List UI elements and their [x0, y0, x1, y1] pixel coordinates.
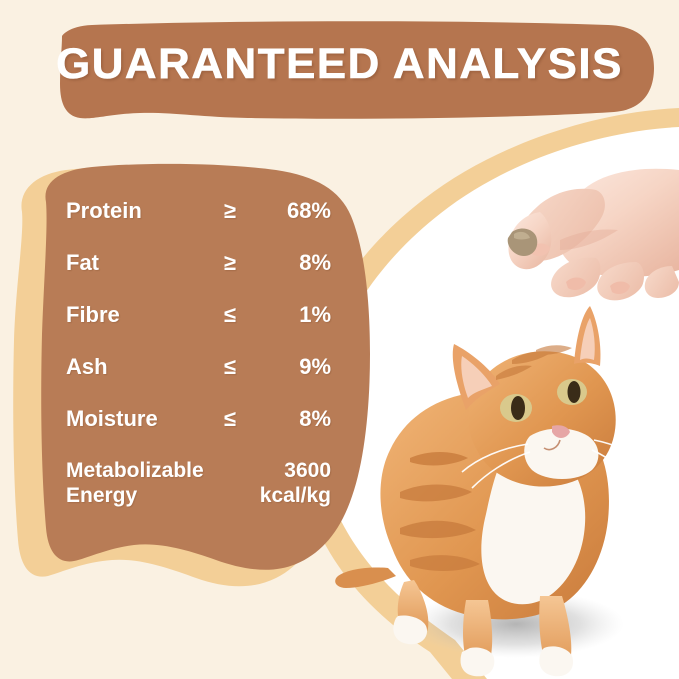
guaranteed-analysis-infographic: GUARANTEED ANALYSIS Protein ≥ 68% Fat ≥ … [0, 0, 679, 679]
table-row: Metabolizable Energy 3600 kcal/kg [66, 458, 331, 508]
nutrient-value: 9% [254, 354, 331, 380]
cat-eye-left-pupil [511, 396, 525, 420]
cat-eye-right-pupil [568, 381, 581, 403]
comparison-operator: ≥ [206, 198, 254, 224]
nutrient-label: Fibre [66, 302, 206, 328]
nutrient-value: 8% [254, 250, 331, 276]
nutrient-value: 3600 kcal/kg [226, 458, 331, 508]
title-banner [60, 21, 654, 119]
nutrient-value: 68% [254, 198, 331, 224]
nutrient-label: Ash [66, 354, 206, 380]
nutrient-label: Protein [66, 198, 206, 224]
comparison-operator: ≥ [206, 250, 254, 276]
guaranteed-analysis-table: Protein ≥ 68% Fat ≥ 8% Fibre ≤ 1% Ash ≤ … [66, 198, 331, 508]
cat-paw-front-left [461, 647, 495, 676]
comparison-operator: ≤ [206, 302, 254, 328]
table-row: Moisture ≤ 8% [66, 406, 331, 458]
table-row: Fat ≥ 8% [66, 250, 331, 302]
table-row: Fibre ≤ 1% [66, 302, 331, 354]
nutrient-value: 1% [254, 302, 331, 328]
nutrient-label: Fat [66, 250, 206, 276]
table-row: Ash ≤ 9% [66, 354, 331, 406]
nutrient-label: Moisture [66, 406, 206, 432]
nutrient-label: Metabolizable Energy [66, 458, 226, 508]
comparison-operator: ≤ [206, 406, 254, 432]
table-row: Protein ≥ 68% [66, 198, 331, 250]
nutrient-value: 8% [254, 406, 331, 432]
comparison-operator: ≤ [206, 354, 254, 380]
